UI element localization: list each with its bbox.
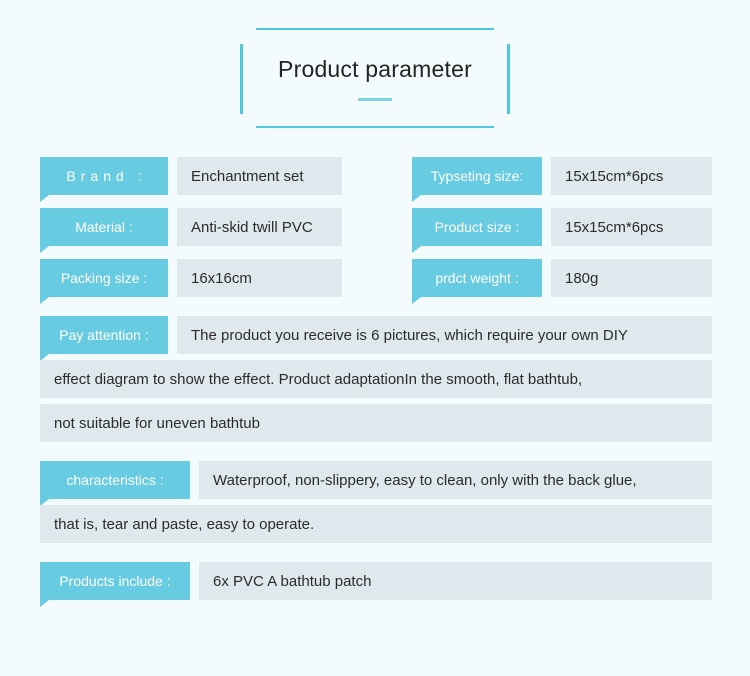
label-product-weight: prdct weight :	[412, 259, 542, 297]
title-accent-underline	[358, 98, 392, 101]
product-parameter-page: Product parameter Brand : Enchantment se…	[0, 0, 750, 676]
table-row: prdct weight : 180g	[412, 259, 712, 297]
page-title: Product parameter	[240, 56, 510, 83]
table-row: Packing size : 16x16cm	[40, 259, 342, 297]
table-row: Material : Anti-skid twill PVC	[40, 208, 342, 246]
label-typesetting-size: Typseting size:	[412, 157, 542, 195]
table-row: Brand : Enchantment set	[40, 157, 342, 195]
label-packing-size: Packing size :	[40, 259, 168, 297]
characteristics-line-1: Waterproof, non-slippery, easy to clean,…	[199, 461, 712, 499]
pay-attention-line-2: effect diagram to show the effect. Produ…	[40, 360, 712, 398]
label-pay-attention: Pay attention :	[40, 316, 168, 354]
label-product-size: Product size :	[412, 208, 542, 246]
table-row: Product size : 15x15cm*6pcs	[412, 208, 712, 246]
value-material: Anti-skid twill PVC	[177, 208, 342, 246]
characteristics-row: characteristics : Waterproof, non-slippe…	[40, 461, 712, 499]
pay-attention-line-3: not suitable for uneven bathtub	[40, 404, 712, 442]
value-product-size: 15x15cm*6pcs	[551, 208, 712, 246]
table-row: Typseting size: 15x15cm*6pcs	[412, 157, 712, 195]
label-characteristics: characteristics :	[40, 461, 190, 499]
label-products-include: Products include :	[40, 562, 190, 600]
pay-attention-row: Pay attention : The product you receive …	[40, 316, 712, 354]
title-rule-bottom	[256, 126, 494, 128]
value-product-weight: 180g	[551, 259, 712, 297]
label-material: Material :	[40, 208, 168, 246]
value-typesetting-size: 15x15cm*6pcs	[551, 157, 712, 195]
label-brand: Brand :	[40, 157, 168, 195]
page-title-block: Product parameter	[240, 28, 510, 128]
pay-attention-line-1: The product you receive is 6 pictures, w…	[177, 316, 712, 354]
characteristics-line-2: that is, tear and paste, easy to operate…	[40, 505, 712, 543]
products-include-row: Products include : 6x PVC A bathtub patc…	[40, 562, 712, 600]
value-products-include: 6x PVC A bathtub patch	[199, 562, 712, 600]
value-brand: Enchantment set	[177, 157, 342, 195]
value-packing-size: 16x16cm	[177, 259, 342, 297]
title-rule-top	[256, 28, 494, 30]
